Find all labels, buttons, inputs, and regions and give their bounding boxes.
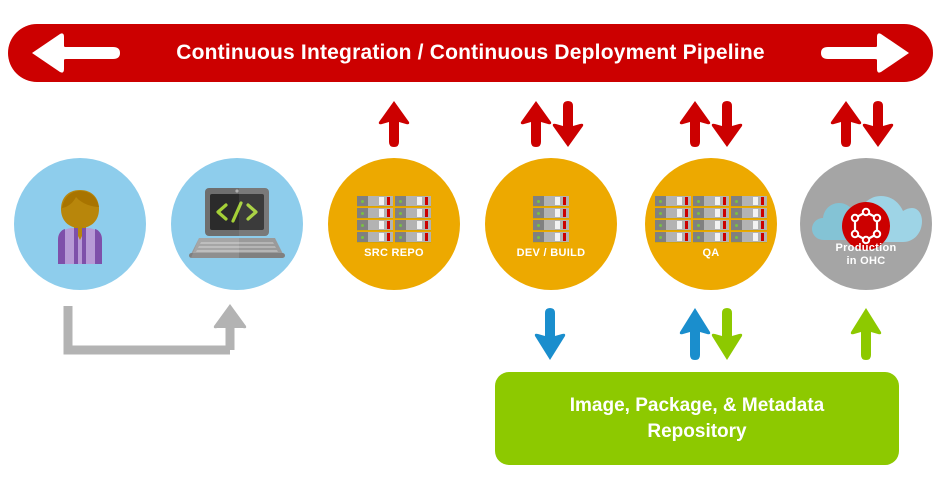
pipeline-banner: Continuous Integration / Continuous Depl… — [8, 24, 933, 82]
server-rack-icon — [645, 196, 777, 243]
page-title: Continuous Integration / Continuous Depl… — [176, 41, 765, 65]
repo-arrow-down-qa — [711, 306, 743, 362]
node-production[interactable]: Production in OHC — [800, 158, 932, 290]
pipeline-arrow-up-production — [829, 100, 863, 148]
repo-arrow-up-production — [850, 306, 882, 362]
cicd-pipeline-diagram: Continuous Integration / Continuous Depl… — [0, 0, 941, 500]
pipeline-arrow-down-production — [861, 100, 895, 148]
node-label-src-repo: SRC REPO — [328, 247, 460, 260]
node-src-repo[interactable]: SRC REPO — [328, 158, 460, 290]
repository-box[interactable]: Image, Package, & Metadata Repository — [495, 372, 899, 465]
node-qa[interactable]: QA — [645, 158, 777, 290]
node-workstation[interactable] — [171, 158, 303, 290]
feedback-loop-arrow-icon — [62, 300, 252, 362]
person-icon — [14, 180, 146, 272]
laptop-code-icon — [171, 180, 303, 272]
pipeline-arrow-up-src-repo — [377, 100, 411, 148]
arrow-right-icon — [819, 32, 911, 74]
node-dev-build[interactable]: DEV / BUILD — [485, 158, 617, 290]
node-label-dev-build: DEV / BUILD — [485, 247, 617, 260]
pipeline-arrow-up-dev-build — [519, 100, 553, 148]
pipeline-arrow-down-dev-build — [551, 100, 585, 148]
pipeline-arrow-down-qa — [710, 100, 744, 148]
node-label-production: Production in OHC — [800, 242, 932, 268]
repository-label: Image, Package, & Metadata Repository — [570, 393, 825, 445]
node-label-qa: QA — [645, 247, 777, 260]
pipeline-arrow-up-qa — [678, 100, 712, 148]
server-rack-icon — [485, 196, 617, 243]
server-rack-icon — [328, 196, 460, 243]
node-developer[interactable] — [14, 158, 146, 290]
repo-arrow-down-dev-build — [534, 306, 566, 362]
repo-arrow-up-qa — [679, 306, 711, 362]
arrow-left-icon — [30, 32, 122, 74]
